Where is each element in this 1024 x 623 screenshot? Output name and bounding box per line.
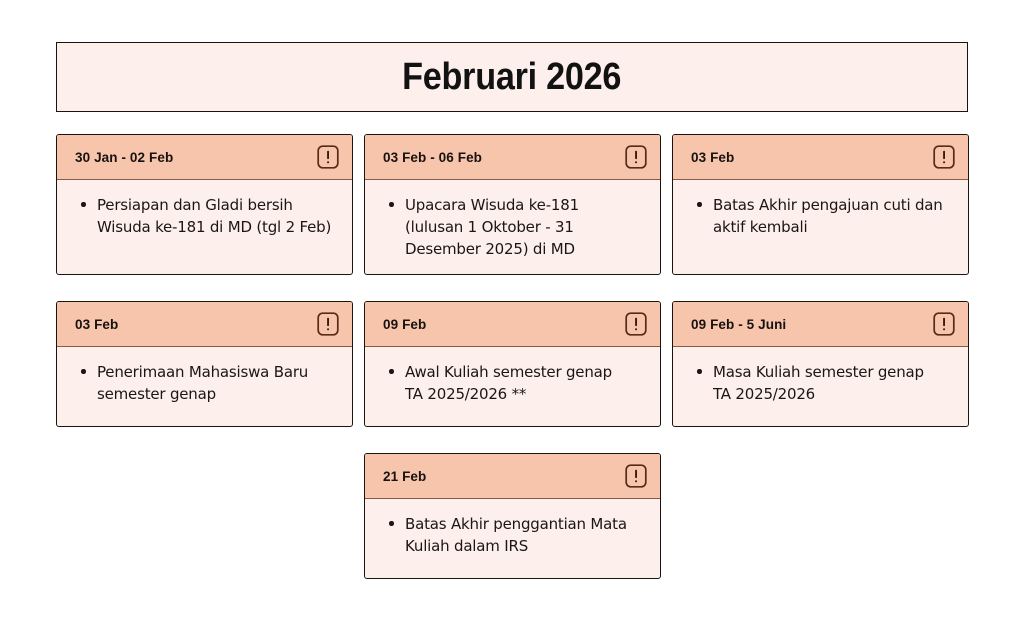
event-card[interactable]: 03 Feb - 06 Feb Upacara Wisuda ke-181 (l… <box>364 134 661 275</box>
event-card[interactable]: 03 Feb Batas Akhir pengajuan cuti dan ak… <box>672 134 969 275</box>
event-card[interactable]: 09 Feb - 5 Juni Masa Kuliah semester gen… <box>672 301 969 427</box>
alert-exclamation-icon <box>625 312 647 336</box>
event-card-header: 21 Feb <box>365 454 660 499</box>
list-item: Persiapan dan Gladi bersih Wisuda ke-181… <box>69 194 338 238</box>
alert-exclamation-icon <box>933 145 955 169</box>
list-item: Penerimaan Mahasiswa Baru semester genap <box>69 361 325 405</box>
event-card-grid: 30 Jan - 02 Feb Persiapan dan Gladi bers… <box>56 134 968 579</box>
alert-exclamation-icon <box>317 145 339 169</box>
event-item-list: Upacara Wisuda ke-181 (lulusan 1 Oktober… <box>377 194 646 260</box>
event-card[interactable]: 21 Feb Batas Akhir penggantian Mata Kuli… <box>364 453 661 579</box>
event-card-header: 03 Feb <box>673 135 968 180</box>
event-card-body: Penerimaan Mahasiswa Baru semester genap <box>57 347 352 426</box>
event-card[interactable]: 30 Jan - 02 Feb Persiapan dan Gladi bers… <box>56 134 353 275</box>
event-date-label: 03 Feb <box>691 150 734 165</box>
event-item-list: Batas Akhir pengajuan cuti dan aktif kem… <box>685 194 954 238</box>
event-card[interactable]: 09 Feb Awal Kuliah semester genap TA 202… <box>364 301 661 427</box>
event-date-label: 21 Feb <box>383 469 426 484</box>
event-date-label: 03 Feb - 06 Feb <box>383 150 482 165</box>
event-card-body: Persiapan dan Gladi bersih Wisuda ke-181… <box>57 180 352 274</box>
event-card-header: 30 Jan - 02 Feb <box>57 135 352 180</box>
list-item: Batas Akhir pengajuan cuti dan aktif kem… <box>685 194 954 238</box>
alert-exclamation-icon <box>317 312 339 336</box>
event-card[interactable]: 03 Feb Penerimaan Mahasiswa Baru semeste… <box>56 301 353 427</box>
event-item-list: Awal Kuliah semester genap TA 2025/2026 … <box>377 361 646 405</box>
list-item: Masa Kuliah semester genap TA 2025/2026 <box>685 361 931 405</box>
alert-exclamation-icon <box>625 145 647 169</box>
list-item: Awal Kuliah semester genap TA 2025/2026 … <box>377 361 623 405</box>
event-date-label: 09 Feb <box>383 317 426 332</box>
event-date-label: 09 Feb - 5 Juni <box>691 317 786 332</box>
calendar-page: Februari 2026 30 Jan - 02 Feb Persiapan … <box>56 42 968 579</box>
alert-exclamation-icon <box>933 312 955 336</box>
event-card-body: Masa Kuliah semester genap TA 2025/2026 <box>673 347 968 426</box>
event-card-header: 03 Feb <box>57 302 352 347</box>
event-item-list: Batas Akhir penggantian Mata Kuliah dala… <box>377 513 646 557</box>
event-card-body: Batas Akhir penggantian Mata Kuliah dala… <box>365 499 660 578</box>
event-item-list: Penerimaan Mahasiswa Baru semester genap <box>69 361 338 405</box>
event-date-label: 30 Jan - 02 Feb <box>75 150 173 165</box>
event-item-list: Masa Kuliah semester genap TA 2025/2026 <box>685 361 954 405</box>
event-card-body: Upacara Wisuda ke-181 (lulusan 1 Oktober… <box>365 180 660 274</box>
event-item-list: Persiapan dan Gladi bersih Wisuda ke-181… <box>69 194 338 238</box>
event-card-header: 03 Feb - 06 Feb <box>365 135 660 180</box>
list-item: Upacara Wisuda ke-181 (lulusan 1 Oktober… <box>377 194 610 260</box>
list-item: Batas Akhir penggantian Mata Kuliah dala… <box>377 513 639 557</box>
event-card-header: 09 Feb <box>365 302 660 347</box>
event-card-body: Awal Kuliah semester genap TA 2025/2026 … <box>365 347 660 426</box>
event-date-label: 03 Feb <box>75 317 118 332</box>
event-card-body: Batas Akhir pengajuan cuti dan aktif kem… <box>673 180 968 274</box>
alert-exclamation-icon <box>625 464 647 488</box>
page-title: Februari 2026 <box>403 56 622 99</box>
page-title-banner: Februari 2026 <box>56 42 968 112</box>
event-card-header: 09 Feb - 5 Juni <box>673 302 968 347</box>
